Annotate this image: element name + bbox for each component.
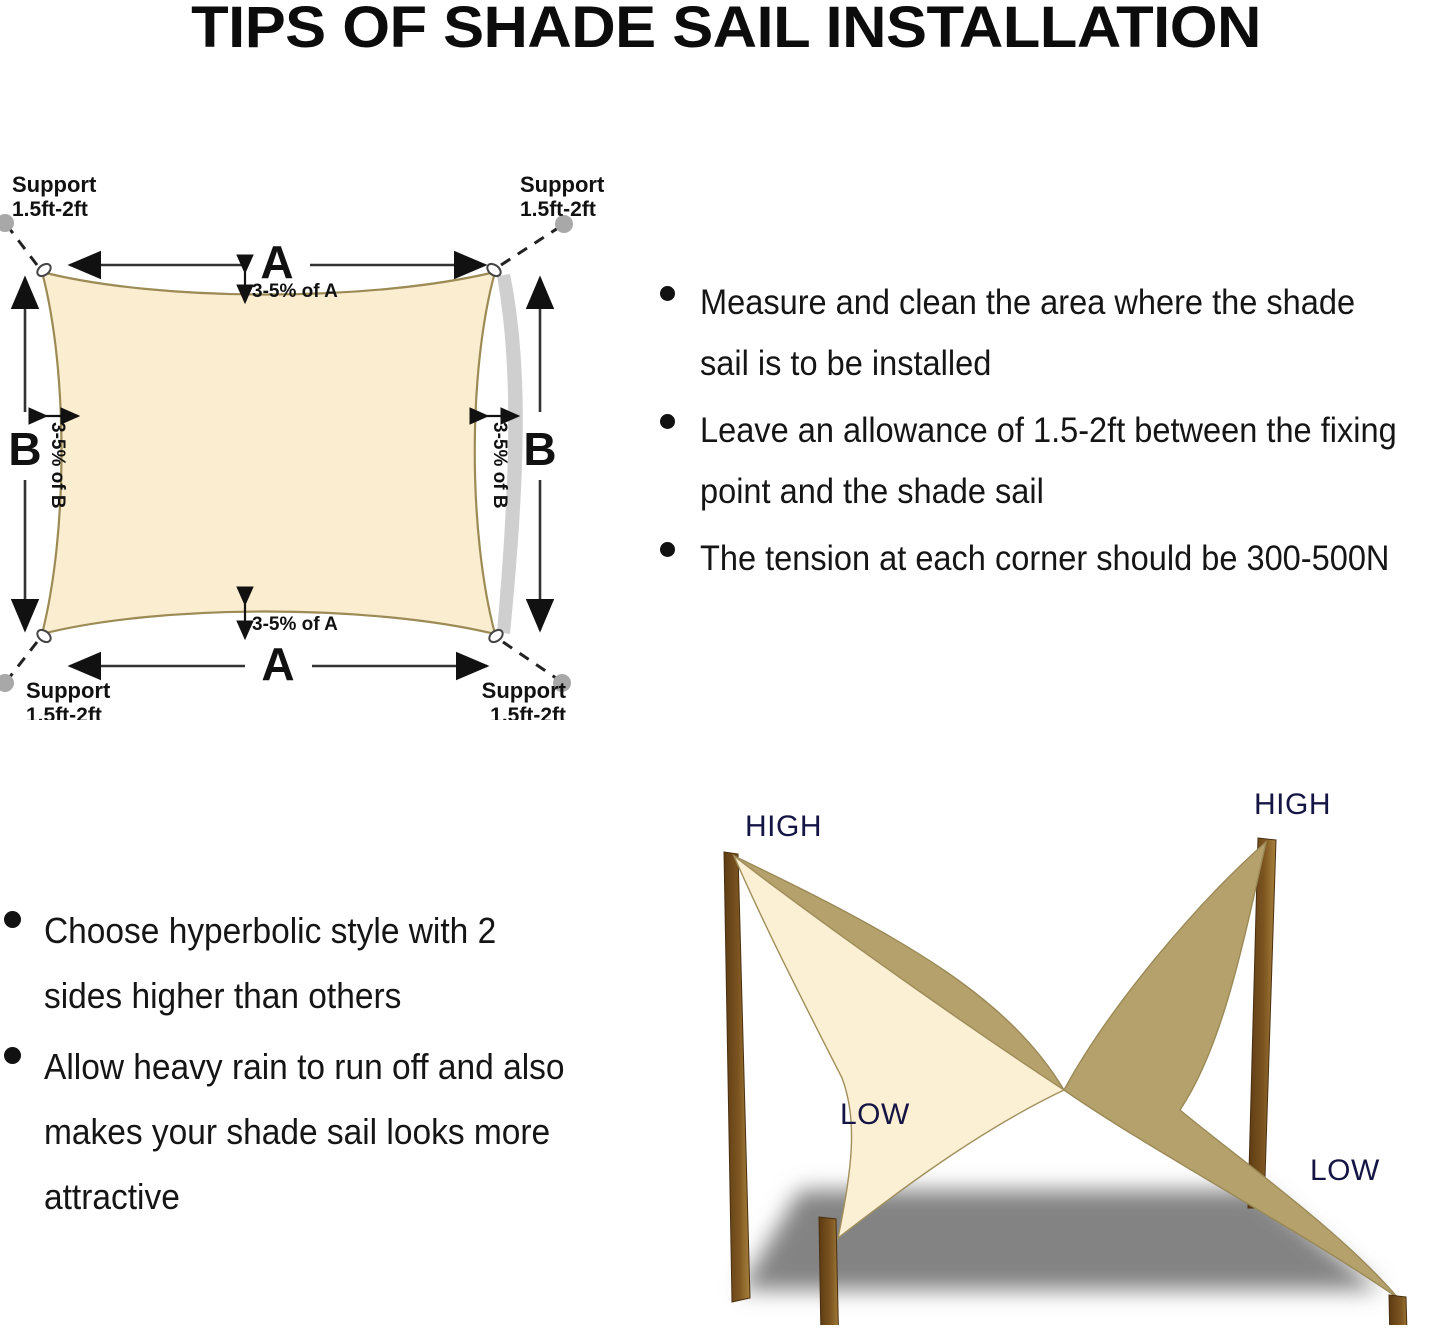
support-line-top-left [9,228,37,265]
post-high-left [724,852,750,1302]
bullet-dot-icon [660,414,675,429]
label-low-right: LOW [1310,1154,1380,1188]
post-low-right [1389,1295,1410,1325]
support-label-bottom-right-line2: 1.5ft-2ft [490,704,566,720]
support-line-top-right [501,228,558,265]
support-label-top-right-line1: Support [520,172,605,197]
list-item: Choose hyperbolic style with 2 sides hig… [0,898,620,1028]
curve-label-bottom: 3-5% of A [252,614,338,635]
list-item: Allow heavy rain to run off and also mak… [0,1034,620,1229]
label-low-left: LOW [840,1098,910,1132]
bullet-dot-icon [4,911,21,928]
list-item: Leave an allowance of 1.5-2ft between th… [660,400,1450,522]
bullet-dot-icon [660,542,675,557]
dim-label-A-bottom: A [261,638,294,690]
support-label-top-left-line1: Support [12,172,97,197]
tip-text: Choose hyperbolic style with 2 sides hig… [44,898,580,1028]
curve-label-top: 3-5% of A [252,281,338,302]
support-line-bottom-left [9,642,37,678]
list-item: The tension at each corner should be 300… [660,528,1450,589]
curve-label-right: 3-5% of B [489,422,510,509]
support-label-bottom-left-line2: 1.5ft-2ft [26,704,102,720]
hyperbolic-sail-svg [680,790,1452,1325]
support-line-bottom-right [503,642,556,678]
support-label-top-right-line2: 1.5ft-2ft [520,198,596,221]
dim-label-B-left: B [8,423,41,475]
installation-tips-right: Measure and clean the area where the sha… [660,272,1450,595]
rectangular-sail-diagram: Support 1.5ft-2ft Support 1.5ft-2ft Supp… [0,160,660,720]
label-high-left: HIGH [745,810,822,844]
label-high-right: HIGH [1254,788,1331,822]
support-label-top-left-line2: 1.5ft-2ft [12,198,88,221]
bullet-dot-icon [660,286,675,301]
tip-text: The tension at each corner should be 300… [700,528,1398,589]
list-item: Measure and clean the area where the sha… [660,272,1450,394]
curve-label-left: 3-5% of B [47,422,68,509]
support-label-bottom-left-line1: Support [26,678,111,703]
bullet-dot-icon [4,1047,21,1064]
dim-label-B-right: B [523,423,556,475]
tip-text: Measure and clean the area where the sha… [700,272,1398,394]
sail-body [42,272,495,634]
tip-text: Allow heavy rain to run off and also mak… [44,1034,580,1229]
hyperbolic-shade-sail-illustration: HIGH HIGH LOW LOW [680,790,1452,1330]
page-title: TIPS OF SHADE SAIL INSTALLATION [0,0,1452,61]
tip-text: Leave an allowance of 1.5-2ft between th… [700,400,1398,522]
installation-tips-left: Choose hyperbolic style with 2 sides hig… [0,898,620,1235]
support-label-bottom-right-line1: Support [482,678,567,703]
